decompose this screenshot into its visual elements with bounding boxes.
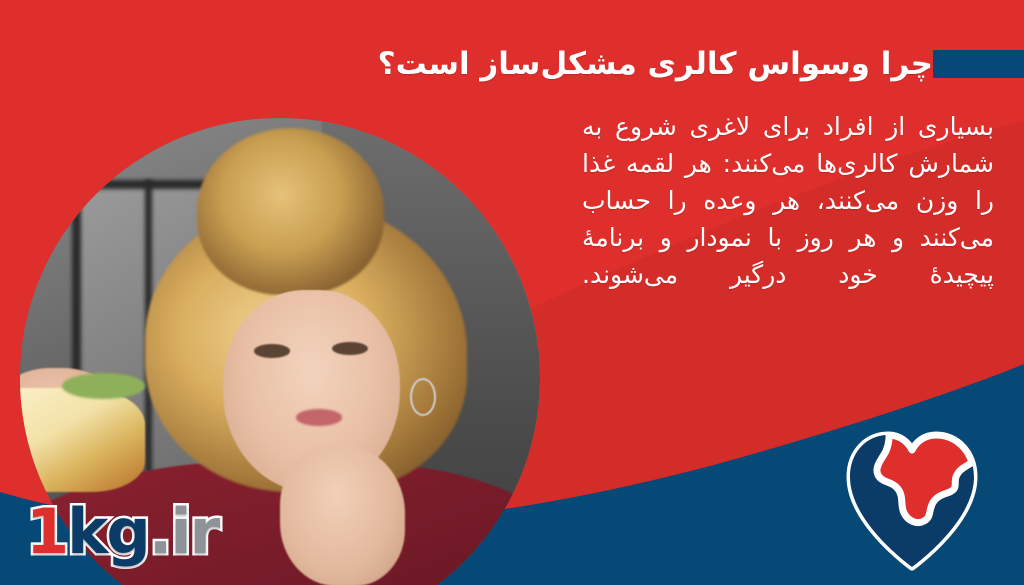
site-logo-part-one: 1 [26, 495, 67, 568]
body-paragraph: بسیاری از افراد برای لاغری شروع به شمارش… [582, 108, 994, 293]
page-title: چرا وسواس کالری مشکل‌ساز است؟ [360, 49, 933, 80]
photo-earring [410, 378, 436, 416]
promo-banner: چرا وسواس کالری مشکل‌ساز است؟ بسیاری از … [0, 0, 1024, 585]
site-logo[interactable]: 1kg.ir [26, 501, 218, 563]
title-accent-bar [933, 50, 1024, 78]
photo-hair-bun [197, 128, 384, 294]
photo-sandwich [20, 388, 145, 492]
site-logo-part-ir: .ir [149, 495, 218, 568]
header-title-row: چرا وسواس کالری مشکل‌ساز است؟ [0, 36, 1024, 92]
heart-icon [842, 425, 982, 573]
photo-lips [296, 409, 343, 426]
body-copy: بسیاری از افراد برای لاغری شروع به شمارش… [582, 108, 994, 293]
photo-hand-on-chin [280, 446, 405, 585]
site-logo-part-kg: kg [67, 495, 149, 568]
photo-eye-left [254, 344, 290, 358]
photo-lettuce [62, 373, 145, 399]
photo-eye-right [332, 342, 368, 356]
